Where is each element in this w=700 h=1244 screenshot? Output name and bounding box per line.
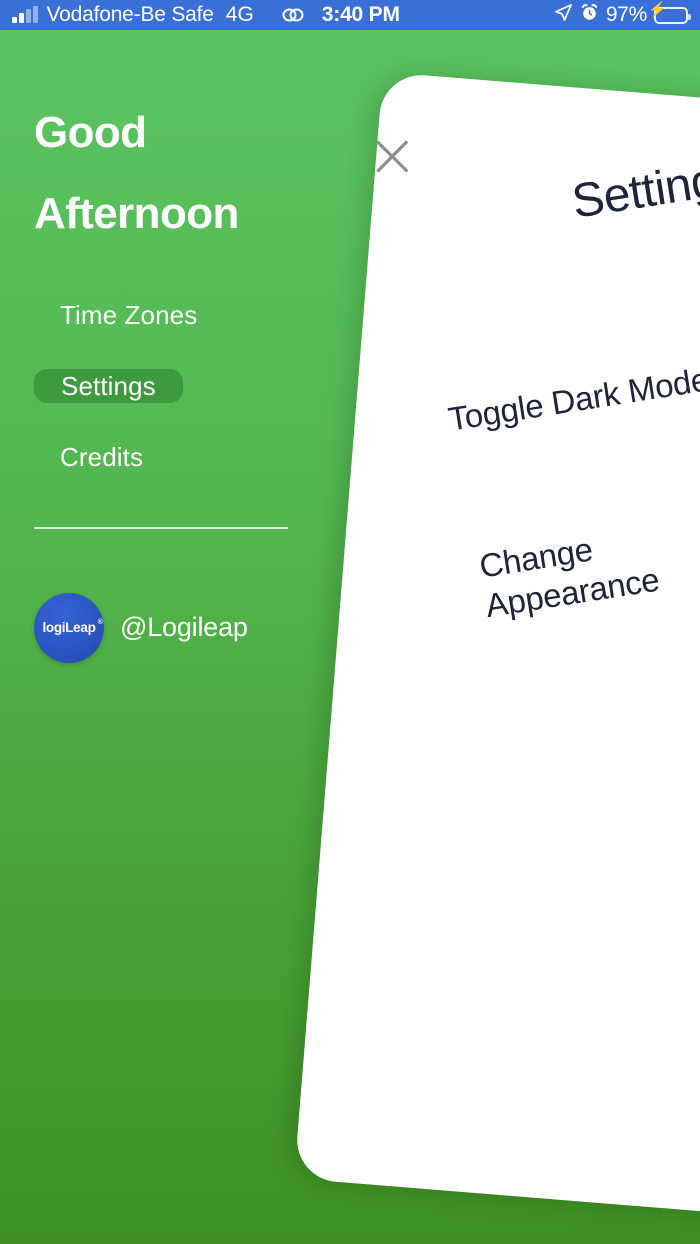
sidebar-item-settings[interactable]: Settings (34, 369, 183, 403)
network-type: 4G (226, 3, 254, 27)
account-handle: @Logileap (120, 612, 248, 643)
logo-trademark: ® (98, 619, 103, 626)
link-icon (281, 7, 305, 23)
sidebar-divider (34, 527, 288, 529)
battery-charging-icon: ⚡ (654, 7, 688, 24)
clock-time: 3:40 PM (322, 3, 400, 27)
location-arrow-icon (554, 3, 573, 27)
battery-percent: 97% (606, 3, 647, 27)
logo-wordmark: logiLeap (42, 620, 95, 635)
setting-label-dark-mode: Toggle Dark Mode (446, 359, 700, 439)
sidebar-row-settings: Settings (34, 369, 390, 451)
panel-title: Settings (568, 149, 700, 230)
carrier-name: Vodafone-Be Safe (47, 3, 214, 27)
app-screen: Vodafone-Be Safe 4G 3:40 PM (0, 0, 700, 1244)
sidebar-item-time-zones[interactable]: Time Zones (60, 309, 197, 321)
sidebar-item-credits[interactable]: Credits (60, 451, 143, 463)
greeting-heading: Good Afternoon (0, 92, 390, 255)
setting-label-change-appearance: Change Appearance (477, 511, 700, 627)
alarm-clock-icon (580, 3, 599, 27)
greeting-line-1: Good (34, 92, 390, 173)
sidebar-row-credits: Credits (34, 451, 390, 511)
settings-panel-content: Settings Toggle Dark Mode Change Appeara… (362, 72, 700, 1186)
signal-bars-icon (12, 7, 38, 23)
logileap-logo-icon: logiLeap® (34, 593, 104, 663)
close-x-icon[interactable] (373, 137, 411, 175)
status-bar-left: Vodafone-Be Safe 4G 3:40 PM (12, 3, 400, 27)
greeting-line-2: Afternoon (34, 173, 390, 254)
setting-row-toggle-dark-mode: Toggle Dark Mode (445, 338, 700, 444)
sidebar-nav: Time Zones Settings Credits (0, 309, 390, 511)
setting-row-change-appearance: Change Appearance Blue (477, 485, 700, 627)
status-bar: Vodafone-Be Safe 4G 3:40 PM (0, 0, 700, 30)
sidebar-row-time-zones: Time Zones (34, 309, 390, 369)
status-bar-right: 97% ⚡ (554, 3, 688, 27)
